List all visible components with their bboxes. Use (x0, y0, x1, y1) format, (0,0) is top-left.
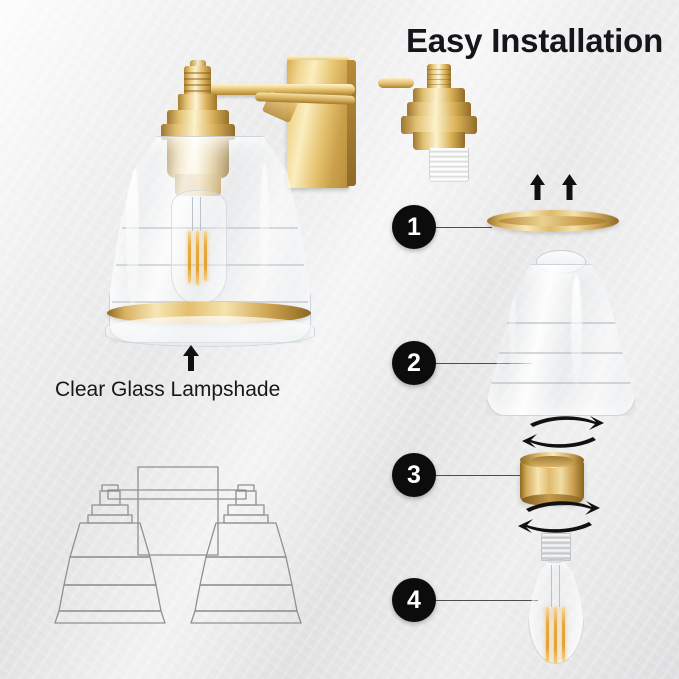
leader-line-1 (436, 227, 492, 228)
caption-up-arrow-icon (183, 345, 199, 371)
gold-backplate (287, 60, 349, 188)
shade-body (486, 264, 636, 416)
clear-glass-shade-part (480, 240, 640, 420)
step-badge-4[interactable]: 4 (392, 578, 436, 622)
leader-line-4 (436, 600, 538, 601)
page-title: Easy Installation (406, 22, 663, 60)
backplate-right-edge (347, 60, 356, 186)
leader-line-3 (436, 475, 524, 476)
two-light-vanity-outline (52, 445, 352, 645)
step-badge-2[interactable]: 2 (392, 341, 436, 385)
up-arrow-icon (562, 174, 577, 200)
main-fixture-image (95, 48, 395, 358)
gold-collar-part (520, 452, 584, 506)
shade-bottom-flare (105, 316, 315, 347)
bulb-glass (528, 560, 584, 664)
infographic-canvas: Easy Installation (0, 0, 679, 679)
gold-trim-ring-part (487, 210, 619, 232)
socket-white-thread (429, 148, 469, 182)
socket-neck (427, 64, 451, 90)
twist-arrow-icon (516, 500, 602, 534)
step-badge-3[interactable]: 3 (392, 453, 436, 497)
twist-arrow-icon (520, 415, 606, 449)
edison-bulb-installed (171, 190, 227, 304)
up-arrow-icon (530, 174, 545, 200)
socket-neck-upper (184, 66, 211, 96)
step-badge-1[interactable]: 1 (392, 205, 436, 249)
edison-bulb-part (527, 533, 583, 669)
lampshade-caption: Clear Glass Lampshade (55, 378, 280, 402)
exploded-socket-assembly (393, 62, 493, 180)
